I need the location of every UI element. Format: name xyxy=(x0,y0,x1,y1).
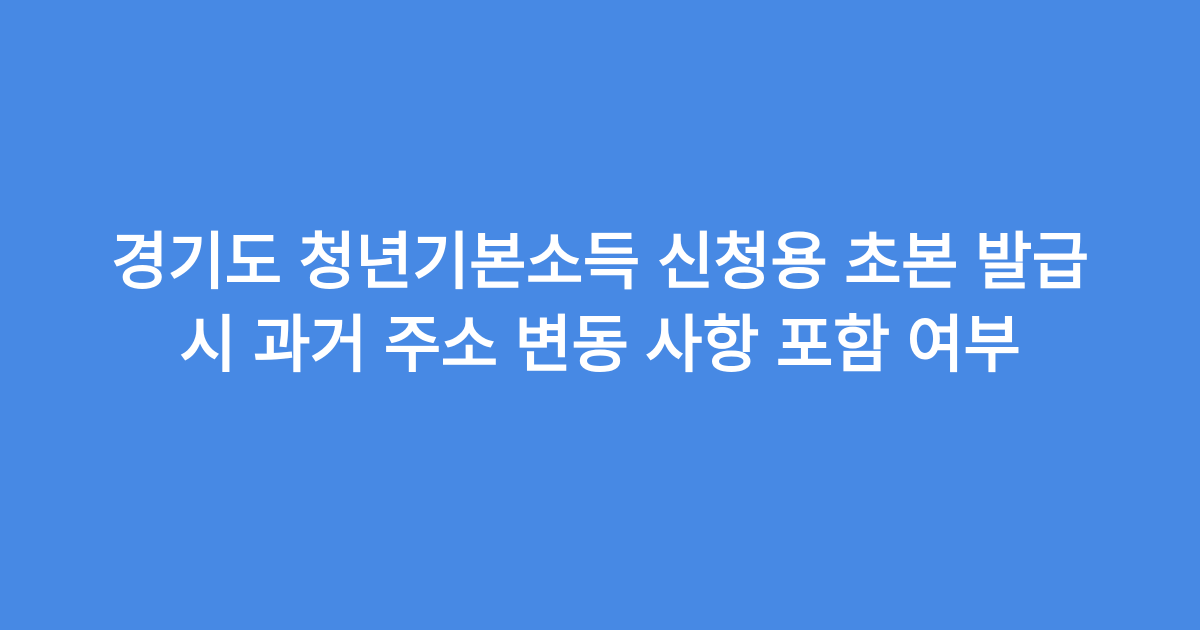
share-card: 경기도 청년기본소득 신청용 초본 발급 시 과거 주소 변동 사항 포함 여부 xyxy=(0,0,1200,630)
page-title: 경기도 청년기본소득 신청용 초본 발급 시 과거 주소 변동 사항 포함 여부 xyxy=(95,221,1105,387)
headline-block: 경기도 청년기본소득 신청용 초본 발급 시 과거 주소 변동 사항 포함 여부 xyxy=(95,221,1105,409)
